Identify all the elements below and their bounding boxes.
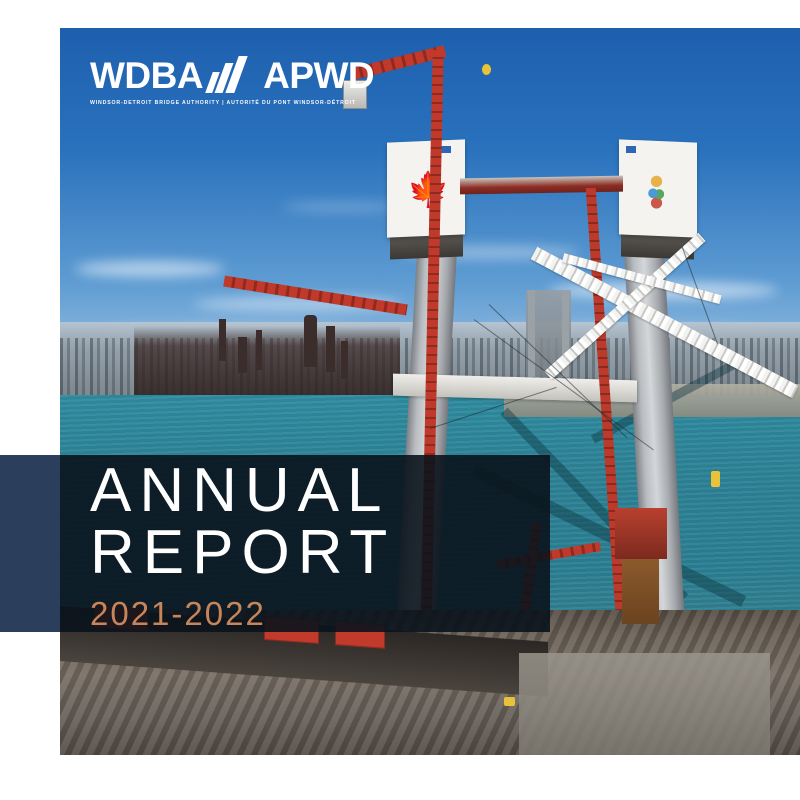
crawler-crane-base xyxy=(622,559,659,624)
upper-connecting-strut xyxy=(460,176,623,195)
sail-mark-icon xyxy=(205,55,261,95)
yellow-equipment xyxy=(504,697,515,706)
navy-side-panel xyxy=(0,455,60,632)
title-block: ANNUAL REPORT 2021-2022 xyxy=(90,462,560,633)
crawler-crane-body xyxy=(615,508,667,559)
report-years: 2021-2022 xyxy=(90,595,560,633)
smokestack xyxy=(256,330,262,370)
smokestack xyxy=(238,337,247,373)
logo-word-apwd: APWD xyxy=(263,57,374,94)
smokestack xyxy=(304,315,317,367)
yellow-equipment xyxy=(711,471,720,487)
title-line-2: REPORT xyxy=(90,524,560,582)
title-line-1: ANNUAL xyxy=(90,462,560,520)
cloud xyxy=(75,261,225,277)
blue-sign xyxy=(441,146,451,153)
smokestack xyxy=(219,319,226,361)
wdba-apwd-logo: WDBA APWD WINDSOR-DETROIT BRIDGE AUTHORI… xyxy=(90,55,374,106)
concrete-work-pad xyxy=(519,653,771,755)
cover-photo: 🍁 xyxy=(60,28,800,755)
industrial-plant-silhouette xyxy=(134,326,400,406)
smokestack xyxy=(326,326,335,372)
logo-tagline: WINDSOR-DETROIT BRIDGE AUTHORITY | AUTOR… xyxy=(90,100,374,106)
blue-sign xyxy=(626,146,636,153)
logo-word-wdba: WDBA xyxy=(90,57,203,94)
logo-wordmark: WDBA APWD xyxy=(90,55,374,95)
emblem-graphic xyxy=(645,166,669,210)
smokestack xyxy=(341,341,348,379)
report-cover-page: 🍁 WDBA xyxy=(0,0,800,800)
